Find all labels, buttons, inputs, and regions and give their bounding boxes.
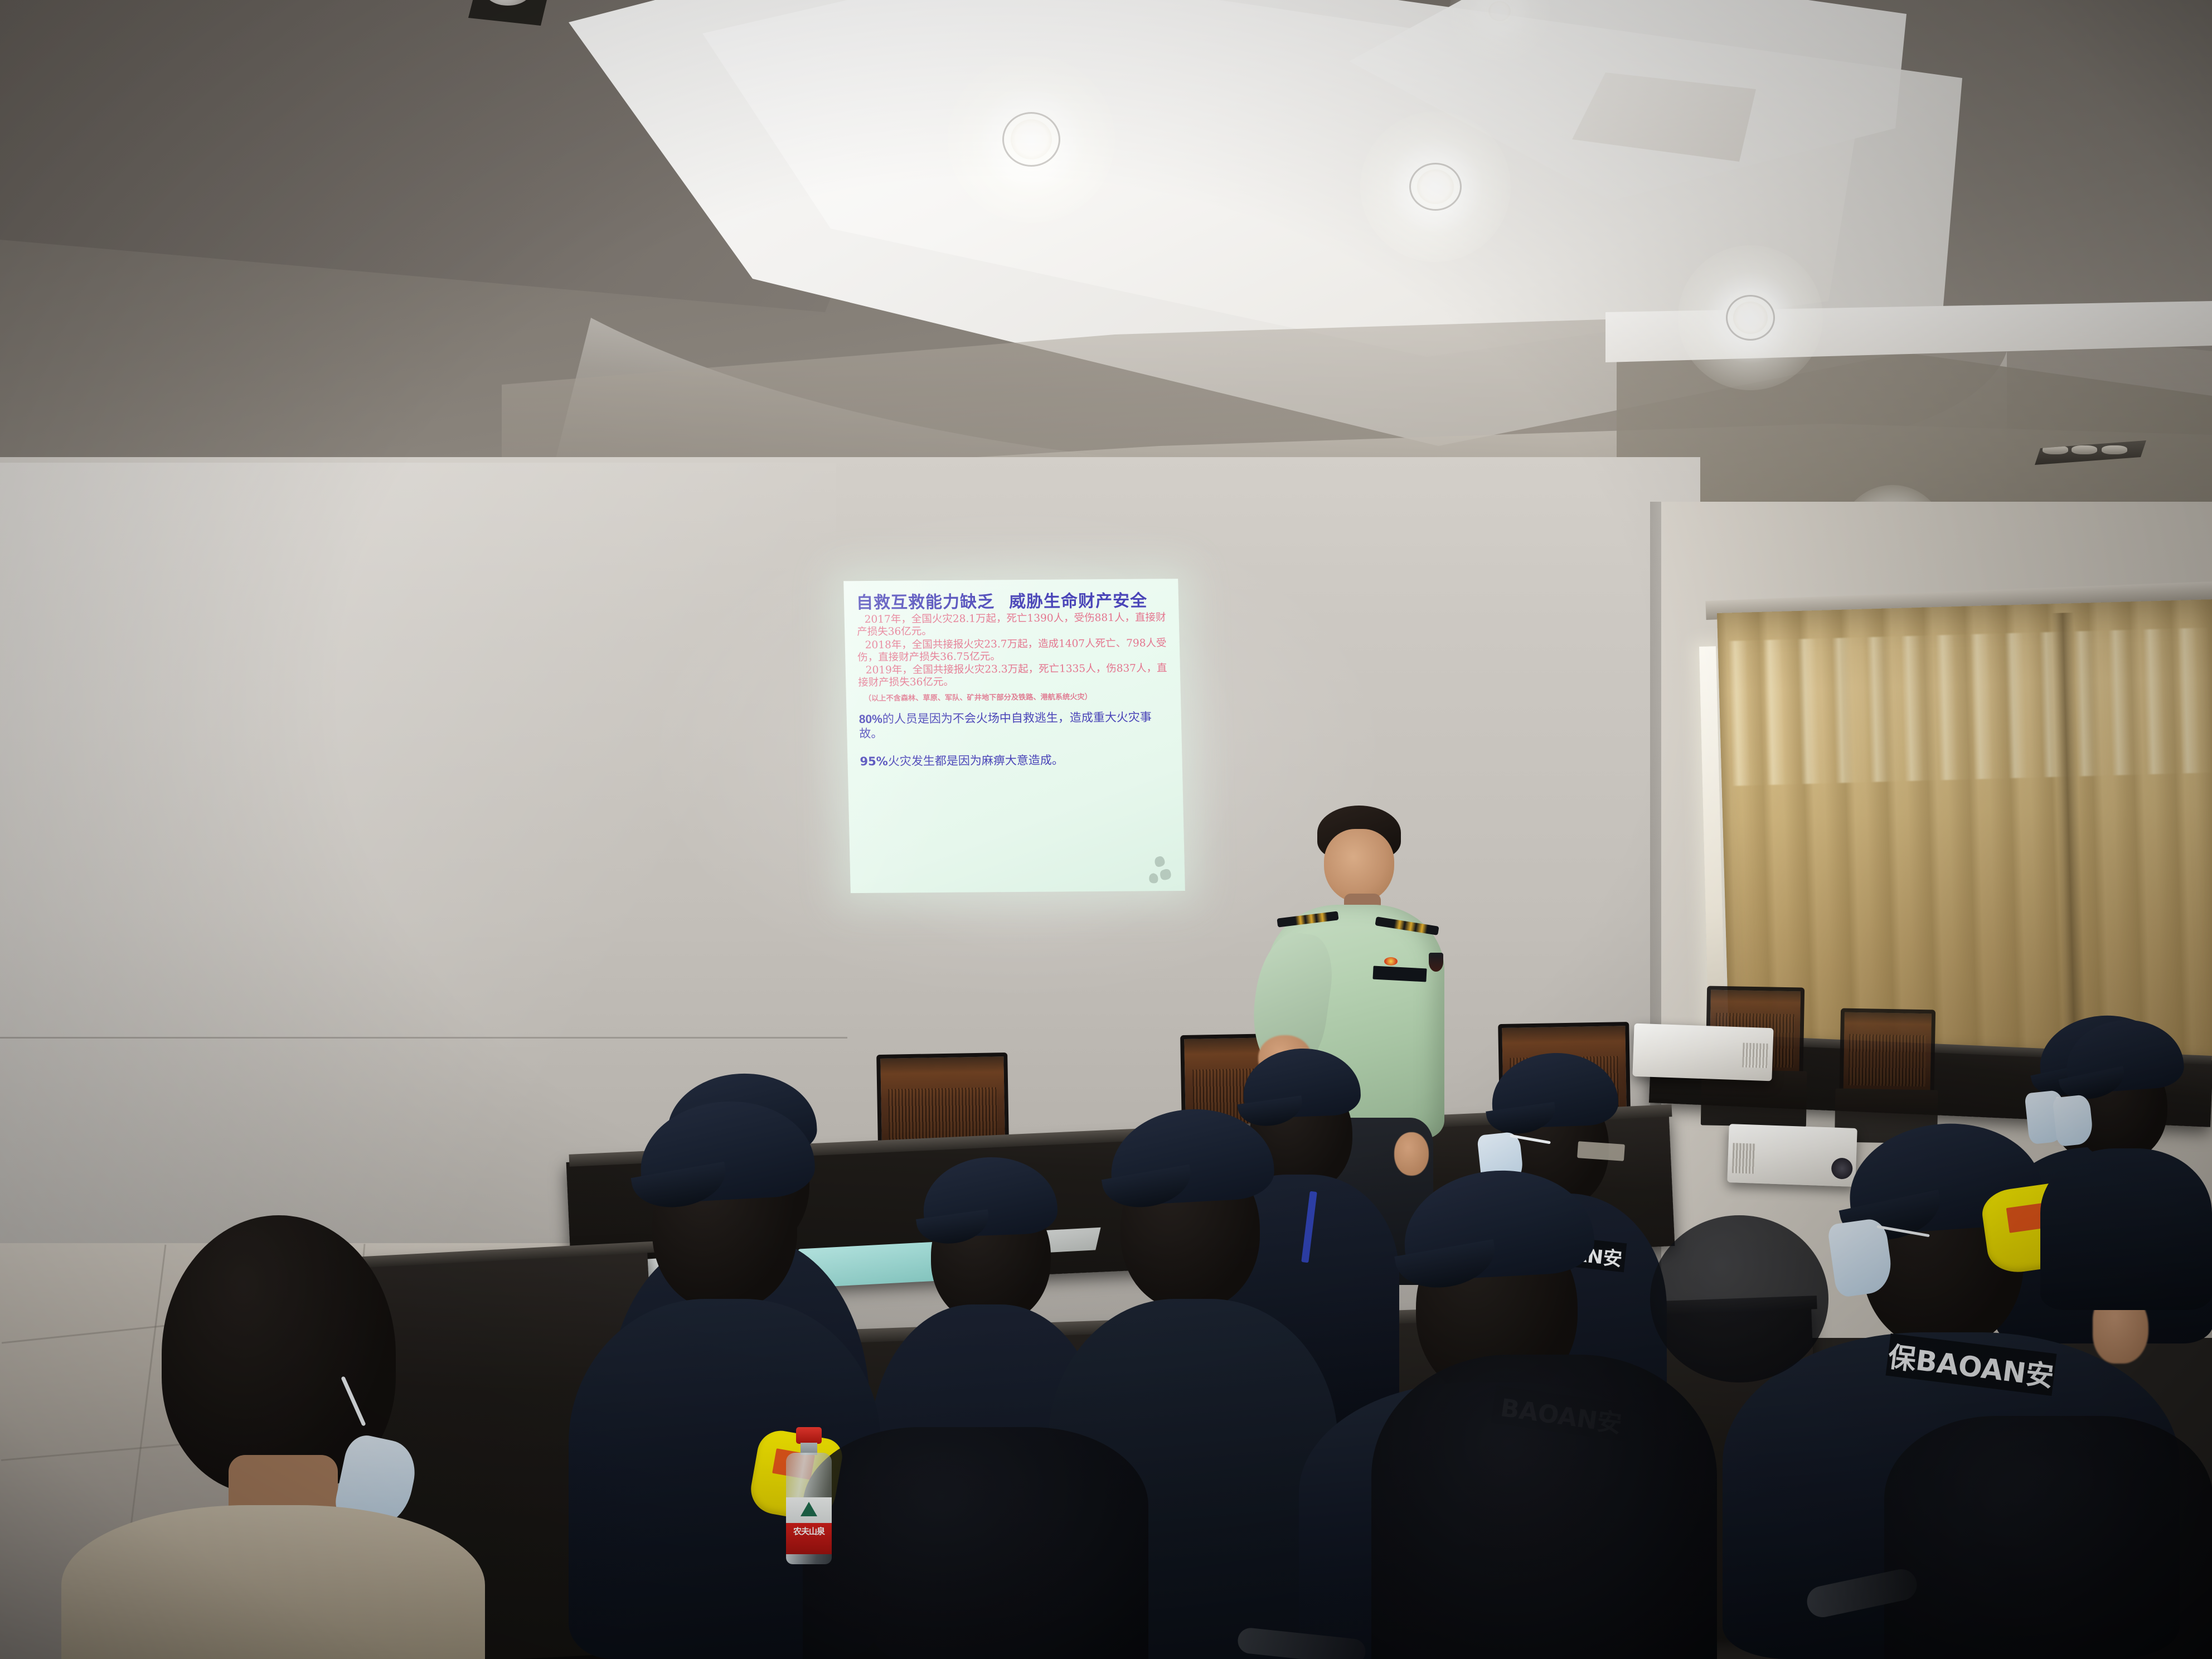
slide-highlight-80-stat: 80% bbox=[859, 713, 883, 726]
slide-title-left: 自救互救能力缺乏 bbox=[856, 592, 995, 613]
crowd-shadow-backright bbox=[1650, 1215, 1828, 1382]
presenter-face bbox=[1324, 829, 1394, 903]
slide-footnote: （以上不含森林、草原、军队、矿井地下部分及铁路、港航系统火灾） bbox=[864, 692, 1172, 704]
downlight-3 bbox=[1678, 245, 1823, 390]
slide-watermark-logo bbox=[1146, 853, 1178, 886]
slide-paragraph-2017: 2017年，全国火灾28.1万起，死亡1390人，受伤881人，直接财产损失36… bbox=[857, 612, 1171, 638]
slide-highlight-80-text: 的人员是因为不会火场中自救逃生，造成重大火灾事故。 bbox=[859, 711, 1152, 740]
attendee-torso bbox=[61, 1505, 485, 1659]
bottle-label-brand: 农夫山泉 bbox=[786, 1523, 832, 1554]
crowd-shadow-right bbox=[1884, 1416, 2212, 1659]
small-white-object bbox=[1577, 1141, 1625, 1161]
water-bottle[interactable]: 农夫山泉 bbox=[786, 1427, 832, 1566]
projection-screen-area: 自救互救能力缺乏威胁生命财产安全 2017年，全国火灾28.1万起，死亡1390… bbox=[843, 579, 1202, 915]
bottle-mountain-logo bbox=[801, 1502, 817, 1516]
crowd-shadow-left bbox=[803, 1427, 1148, 1659]
wall-seam-line bbox=[0, 1037, 847, 1039]
slide-highlight-95: 95%火灾发生都是因为麻痹大意造成。 bbox=[860, 753, 1173, 768]
meeting-room-photo: 自救互救能力缺乏威胁生命财产安全 2017年，全国火灾28.1万起，死亡1390… bbox=[0, 0, 2212, 1659]
slide-title: 自救互救能力缺乏威胁生命财产安全 bbox=[856, 592, 1170, 612]
crowd-shadow-mid bbox=[1371, 1355, 1717, 1659]
presenter-nametag bbox=[1372, 966, 1427, 982]
curtain-light-band bbox=[1728, 628, 2211, 786]
slide-body: 2017年，全国火灾28.1万起，死亡1390人，受伤881人，直接财产损失36… bbox=[857, 612, 1173, 768]
slide-highlight-95-text: 火灾发生都是因为麻痹大意造成。 bbox=[888, 754, 1064, 768]
slide-highlight-80: 80%的人员是因为不会火场中自救逃生，造成重大火灾事故。 bbox=[859, 711, 1173, 741]
slide-paragraph-2019: 2019年，全国共接报火灾23.3万起，死亡1335人，伤837人，直接财产损失… bbox=[858, 662, 1172, 689]
attendee-right-edge bbox=[2040, 998, 2212, 1310]
bottle-cap bbox=[796, 1427, 822, 1444]
downlight-2 bbox=[1360, 111, 1511, 262]
projected-slide: 自救互救能力缺乏威胁生命财产安全 2017年，全国火灾28.1万起，死亡1390… bbox=[843, 579, 1185, 893]
attendee-torso bbox=[2040, 1148, 2212, 1310]
presenter-shoulder-patch bbox=[1429, 953, 1443, 972]
slide-title-right: 威胁生命财产安全 bbox=[1009, 591, 1148, 612]
attendee-front-left-civilian bbox=[61, 1215, 485, 1659]
presenter-badge bbox=[1384, 957, 1398, 966]
downlight-1 bbox=[948, 56, 1115, 223]
slide-paragraph-2018: 2018年，全国共接报火灾23.7万起，造成1407人死亡、798人受伤，直接财… bbox=[857, 637, 1171, 664]
slide-highlight-95-stat: 95% bbox=[860, 755, 888, 768]
